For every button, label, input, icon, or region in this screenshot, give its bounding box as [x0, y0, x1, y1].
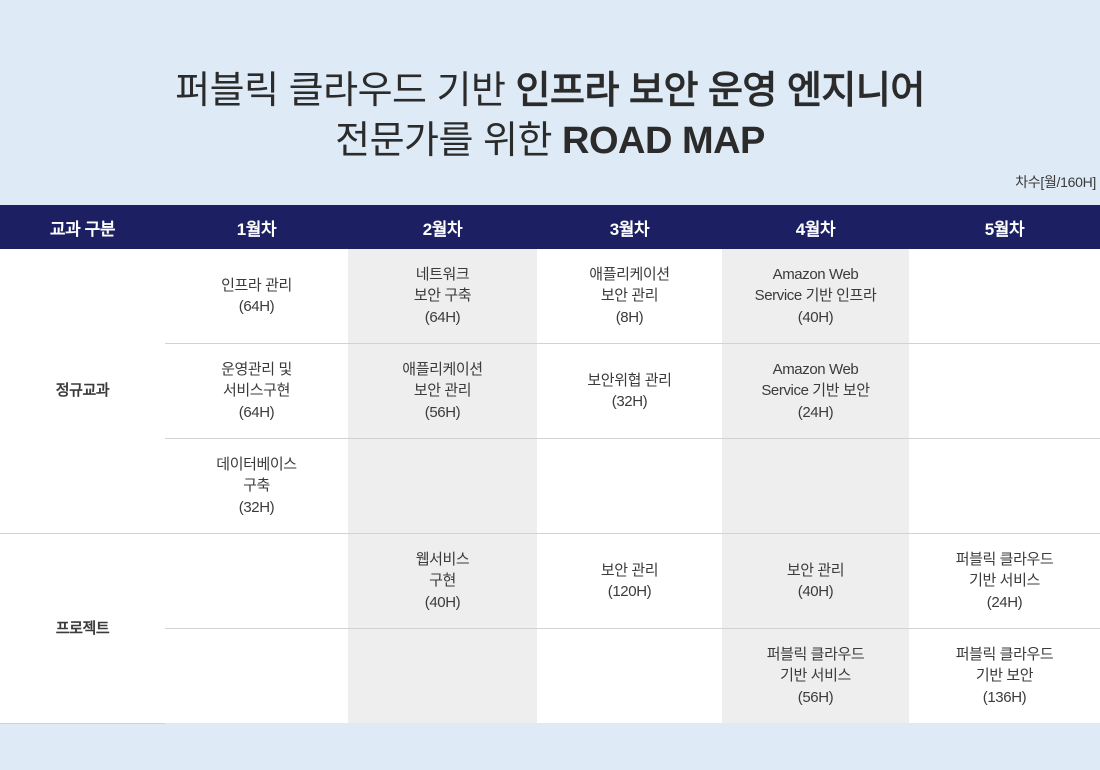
table-row: 프로젝트웹서비스구현(40H)보안 관리(120H)보안 관리(40H)퍼블릭 …	[0, 534, 1100, 629]
course-hours: (40H)	[728, 581, 903, 602]
course-cell: 애플리케이션보안 관리(56H)	[348, 344, 537, 439]
page-title-line-1: 퍼블릭 클라우드 기반 인프라 보안 운영 엔지니어	[0, 66, 1100, 116]
course-name-line: 네트워크	[354, 264, 531, 285]
course-name-line: 서비스구현	[171, 380, 342, 401]
course-cell: 보안 관리(40H)	[722, 534, 909, 629]
header-cell-month-3: 3월차	[537, 205, 722, 249]
course-name-line: Service 기반 보안	[728, 380, 903, 401]
course-hours: (40H)	[728, 307, 903, 328]
course-hours: (64H)	[171, 402, 342, 423]
course-hours: (32H)	[543, 391, 716, 412]
group-label-cell-1: 정규교과	[0, 249, 165, 534]
course-cell: 운영관리 및서비스구현(64H)	[165, 344, 348, 439]
empty-cell	[909, 439, 1100, 534]
course-hours: (56H)	[354, 402, 531, 423]
header-cell-category: 교과 구분	[0, 205, 165, 249]
course-name-line: 기반 서비스	[728, 665, 903, 686]
course-name-line: Amazon Web	[728, 359, 903, 380]
course-name-line: 보안 관리	[543, 560, 716, 581]
course-hours: (120H)	[543, 581, 716, 602]
empty-cell	[909, 249, 1100, 344]
course-name-line: 기반 서비스	[915, 570, 1094, 591]
table-unit-caption: 차수[월/160H]	[1015, 172, 1096, 192]
header-cell-month-5: 5월차	[909, 205, 1100, 249]
course-name-line: 구축	[171, 475, 342, 496]
table-row: 운영관리 및서비스구현(64H)애플리케이션보안 관리(56H)보안위협 관리(…	[0, 344, 1100, 439]
course-cell: 데이터베이스구축(32H)	[165, 439, 348, 534]
course-name-line: 퍼블릭 클라우드	[728, 644, 903, 665]
course-hours: (136H)	[915, 687, 1094, 708]
page-title-line-1-light: 퍼블릭 클라우드 기반	[175, 70, 515, 112]
course-cell: 퍼블릭 클라우드기반 서비스(56H)	[722, 629, 909, 724]
course-name-line: 퍼블릭 클라우드	[915, 644, 1094, 665]
course-name-line: 보안 관리	[543, 285, 716, 306]
empty-cell	[348, 629, 537, 724]
course-hours: (8H)	[543, 307, 716, 328]
empty-cell	[537, 439, 722, 534]
course-name-line: 데이터베이스	[171, 454, 342, 475]
course-name-line: 구현	[354, 570, 531, 591]
course-cell: 보안 관리(120H)	[537, 534, 722, 629]
course-name-line: 보안 관리	[728, 560, 903, 581]
course-hours: (64H)	[171, 296, 342, 317]
page-title: 퍼블릭 클라우드 기반 인프라 보안 운영 엔지니어 전문가를 위한 ROAD …	[0, 66, 1100, 166]
table-row: 퍼블릭 클라우드기반 서비스(56H)퍼블릭 클라우드기반 보안(136H)	[0, 629, 1100, 724]
empty-cell	[722, 439, 909, 534]
course-name-line: 보안위협 관리	[543, 370, 716, 391]
page-title-line-2-light: 전문가를 위한	[335, 120, 562, 162]
table-row: 데이터베이스구축(32H)	[0, 439, 1100, 534]
course-hours: (32H)	[171, 497, 342, 518]
course-name-line: 보안 구축	[354, 285, 531, 306]
course-name-line: 기반 보안	[915, 665, 1094, 686]
course-hours: (40H)	[354, 592, 531, 613]
header-cell-month-2: 2월차	[348, 205, 537, 249]
course-cell: 퍼블릭 클라우드기반 서비스(24H)	[909, 534, 1100, 629]
course-cell: Amazon WebService 기반 보안(24H)	[722, 344, 909, 439]
course-cell: 애플리케이션보안 관리(8H)	[537, 249, 722, 344]
table-row: 정규교과인프라 관리(64H)네트워크보안 구축(64H)애플리케이션보안 관리…	[0, 249, 1100, 344]
empty-cell	[165, 534, 348, 629]
course-hours: (64H)	[354, 307, 531, 328]
group-label-cell-2: 프로젝트	[0, 534, 165, 724]
page-title-line-1-bold: 인프라 보안 운영 엔지니어	[516, 70, 925, 112]
course-cell: 인프라 관리(64H)	[165, 249, 348, 344]
course-name-line: 애플리케이션	[543, 264, 716, 285]
course-cell: 웹서비스구현(40H)	[348, 534, 537, 629]
course-hours: (56H)	[728, 687, 903, 708]
page-title-line-2: 전문가를 위한 ROAD MAP	[0, 116, 1100, 166]
course-name-line: Service 기반 인프라	[728, 285, 903, 306]
header-row: 교과 구분 1월차 2월차 3월차 4월차 5월차	[0, 205, 1100, 249]
roadmap-table-header: 교과 구분 1월차 2월차 3월차 4월차 5월차	[0, 205, 1100, 249]
empty-cell	[537, 629, 722, 724]
empty-cell	[348, 439, 537, 534]
header-cell-month-4: 4월차	[722, 205, 909, 249]
course-cell: Amazon WebService 기반 인프라(40H)	[722, 249, 909, 344]
course-name-line: 퍼블릭 클라우드	[915, 549, 1094, 570]
course-hours: (24H)	[728, 402, 903, 423]
group-label-text: 프로젝트	[56, 620, 110, 640]
course-cell: 보안위협 관리(32H)	[537, 344, 722, 439]
roadmap-table-body: 정규교과인프라 관리(64H)네트워크보안 구축(64H)애플리케이션보안 관리…	[0, 249, 1100, 723]
header-cell-month-1: 1월차	[165, 205, 348, 249]
course-name-line: 운영관리 및	[171, 359, 342, 380]
roadmap-table: 교과 구분 1월차 2월차 3월차 4월차 5월차 정규교과인프라 관리(64H…	[0, 205, 1100, 724]
course-name-line: 보안 관리	[354, 380, 531, 401]
course-cell: 퍼블릭 클라우드기반 보안(136H)	[909, 629, 1100, 724]
group-label-text: 정규교과	[56, 382, 110, 399]
course-name-line: 인프라 관리	[171, 275, 342, 296]
page-title-line-2-bold: ROAD MAP	[562, 120, 765, 162]
course-name-line: Amazon Web	[728, 264, 903, 285]
empty-cell	[165, 629, 348, 724]
empty-cell	[909, 344, 1100, 439]
course-name-line: 애플리케이션	[354, 359, 531, 380]
course-name-line: 웹서비스	[354, 549, 531, 570]
course-hours: (24H)	[915, 592, 1094, 613]
course-cell: 네트워크보안 구축(64H)	[348, 249, 537, 344]
